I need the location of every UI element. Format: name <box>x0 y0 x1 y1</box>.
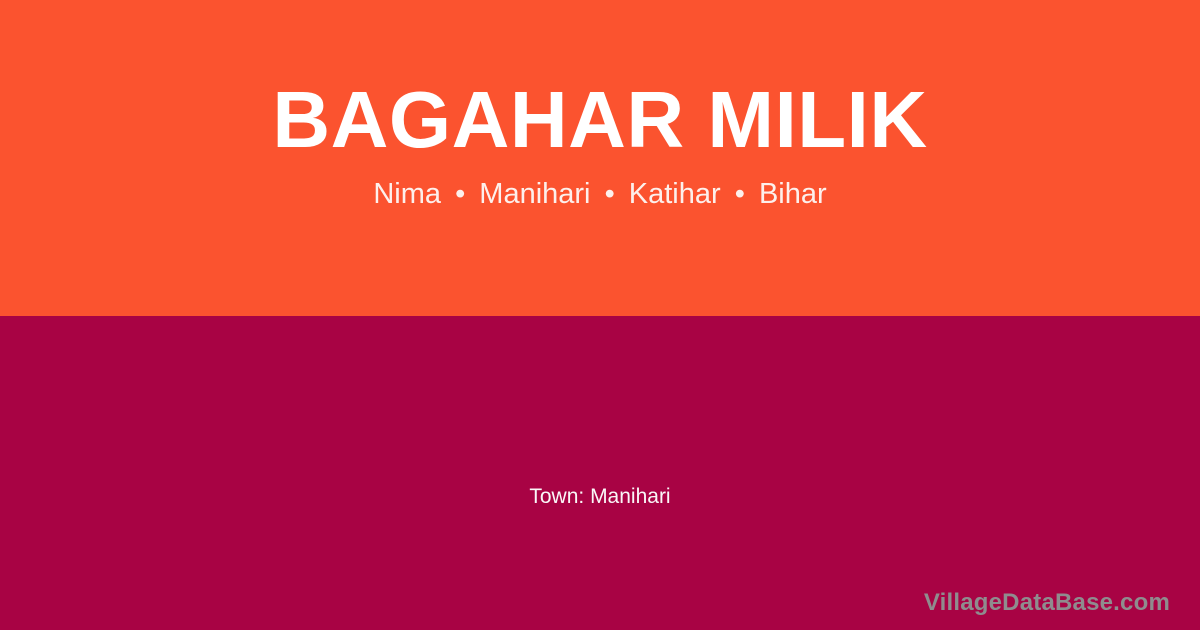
details-list: Town: Manihari <box>0 484 1200 510</box>
breadcrumb-separator: • <box>729 178 751 210</box>
site-watermark: VillageDataBase.com <box>924 588 1170 618</box>
breadcrumb-separator: • <box>449 178 471 210</box>
village-info-card: BAGAHAR MILIK Nima • Manihari • Katihar … <box>0 0 1200 630</box>
breadcrumb: Nima • Manihari • Katihar • Bihar <box>373 176 826 212</box>
breadcrumb-separator: • <box>599 178 621 210</box>
breadcrumb-item-bihar: Bihar <box>759 178 827 210</box>
details-panel: Town: Manihari VillageDataBase.com <box>0 316 1200 630</box>
breadcrumb-item-katihar: Katihar <box>629 178 721 210</box>
breadcrumb-item-manihari: Manihari <box>479 178 590 210</box>
page-title: BAGAHAR MILIK <box>272 78 927 162</box>
breadcrumb-item-nima: Nima <box>373 178 441 210</box>
hero-banner: BAGAHAR MILIK Nima • Manihari • Katihar … <box>0 0 1200 316</box>
detail-row-town: Town: Manihari <box>529 484 670 510</box>
